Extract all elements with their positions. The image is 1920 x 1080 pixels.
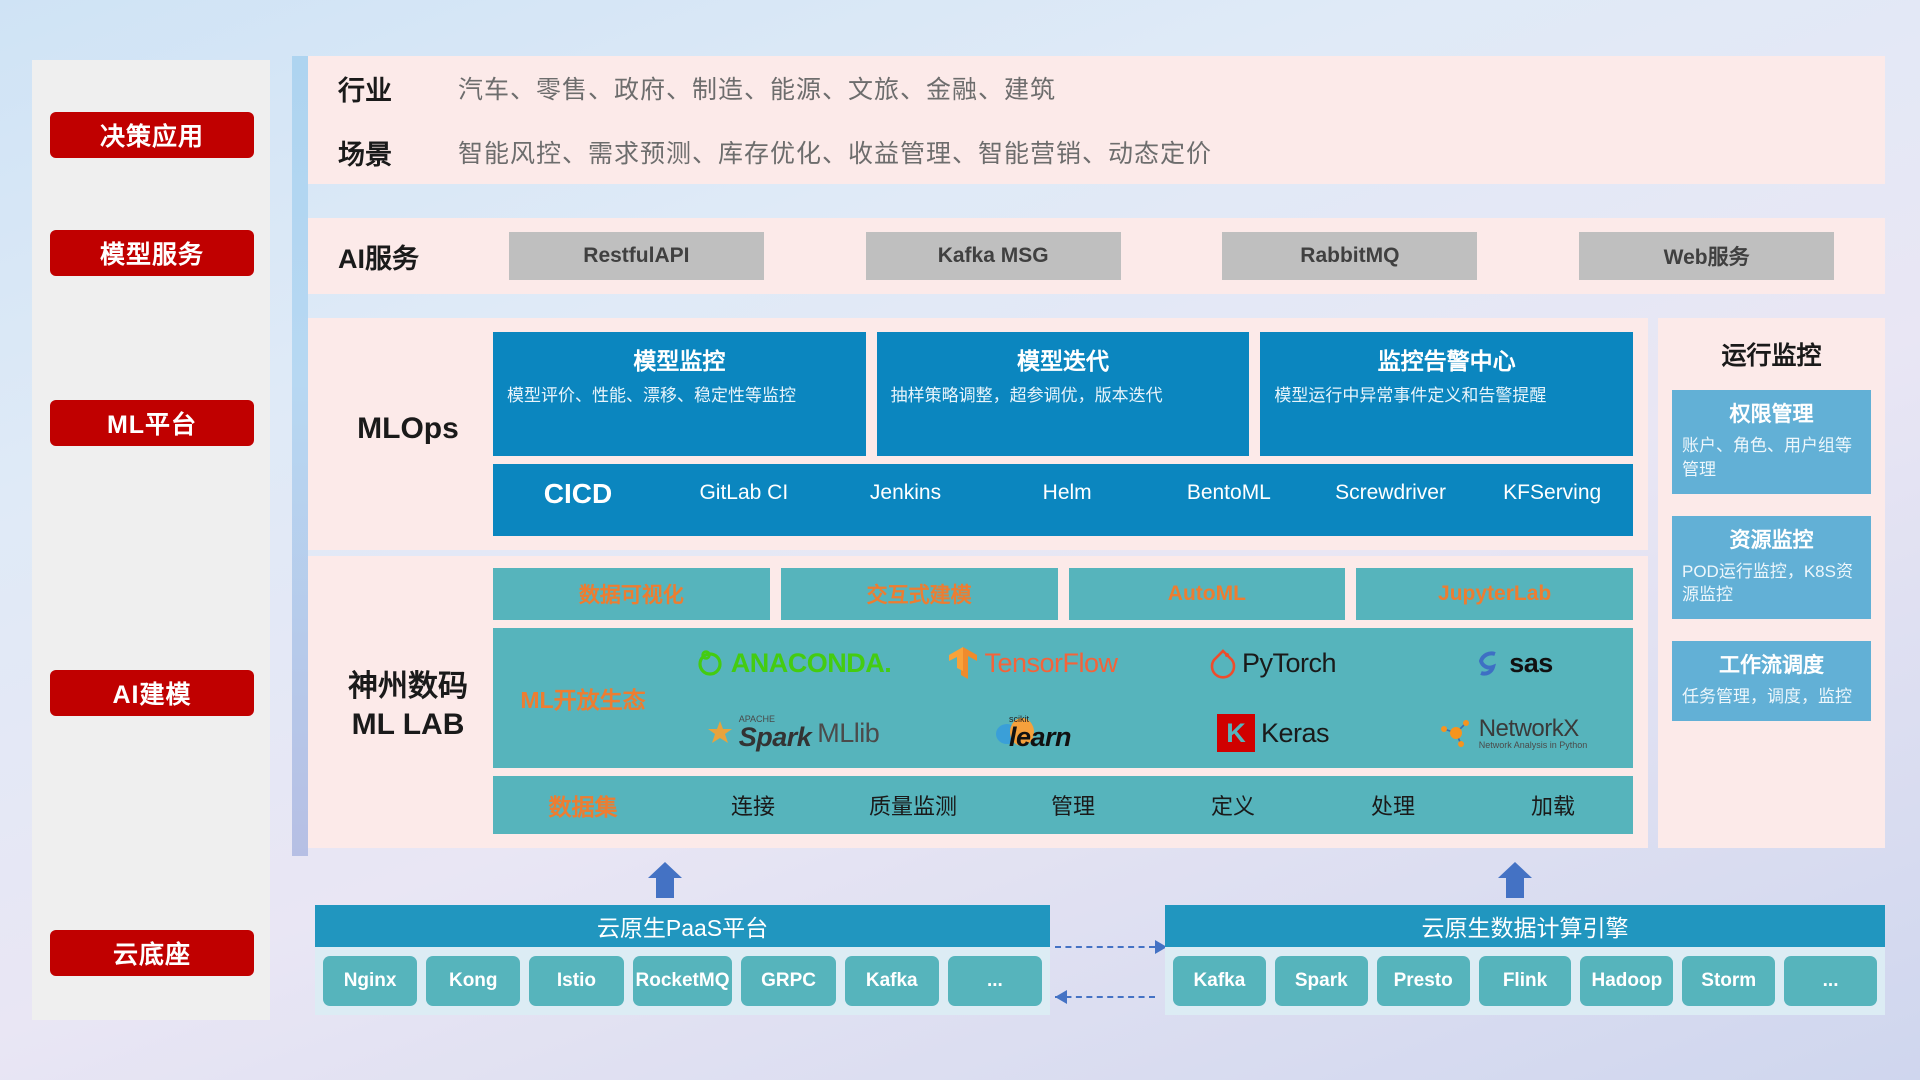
cloud-paas-group: 云原生PaaS平台 Nginx Kong Istio RocketMQ GRPC… — [315, 905, 1050, 1015]
cloud-chip-spark[interactable]: Spark — [1275, 956, 1368, 1006]
monitoring-card-workflow[interactable]: 工作流调度 任务管理，调度，监控 — [1672, 641, 1871, 721]
dataset-band: 数据集 连接 质量监测 管理 定义 处理 加载 — [493, 776, 1633, 834]
mlops-card-model-iteration[interactable]: 模型迭代 抽样策略调整，超参调优，版本迭代 — [877, 332, 1250, 456]
ai-service-chip-web-service[interactable]: Web服务 — [1579, 232, 1834, 280]
cloud-chip-kafka[interactable]: Kafka — [845, 956, 939, 1006]
cloud-paas-chip-list: Nginx Kong Istio RocketMQ GRPC Kafka ... — [315, 947, 1050, 1015]
dashed-line-right — [1055, 946, 1155, 948]
cloud-chip-kong[interactable]: Kong — [426, 956, 520, 1006]
industry-label: 行业 — [338, 69, 458, 108]
cloud-paas-header: 云原生PaaS平台 — [315, 905, 1050, 947]
keras-wordmark: Keras — [1261, 718, 1329, 749]
cloud-chip-flink[interactable]: Flink — [1479, 956, 1572, 1006]
ml-lab-lane-label: 神州数码 ML LAB — [328, 668, 488, 743]
ml-ecosystem-logo-grid: ANACONDA. TensorFlow PyTorch — [673, 628, 1633, 768]
stage-pill-ai-modeling[interactable]: AI建模 — [50, 670, 254, 716]
pytorch-logo: PyTorch — [1210, 647, 1336, 679]
scikit-learn-logo: scikit learn — [995, 715, 1071, 751]
cloud-chip-more-left[interactable]: ... — [948, 956, 1042, 1006]
pytorch-mark-icon — [1210, 647, 1236, 679]
mlops-card-alert-center[interactable]: 监控告警中心 模型运行中异常事件定义和告警提醒 — [1260, 332, 1633, 456]
ai-services-panel: AI服务 RestfulAPI Kafka MSG RabbitMQ Web服务 — [308, 218, 1885, 294]
cloud-chip-kafka-right[interactable]: Kafka — [1173, 956, 1266, 1006]
mlops-panel: MLOps 模型监控 模型评价、性能、漂移、稳定性等监控 模型迭代 抽样策略调整… — [308, 318, 1648, 550]
cloud-data-engine-chip-list: Kafka Spark Presto Flink Hadoop Storm ..… — [1165, 947, 1885, 1015]
cicd-item-jenkins[interactable]: Jenkins — [825, 478, 987, 508]
dataset-item-connect[interactable]: 连接 — [673, 789, 833, 821]
monitoring-panel: 运行监控 权限管理 账户、角色、用户组等管理 资源监控 POD运行监控，K8S资… — [1658, 318, 1885, 848]
mlops-card-desc: 模型运行中异常事件定义和告警提醒 — [1274, 384, 1619, 409]
stage-column: 决策应用 模型服务 ML平台 AI建模 云底座 — [32, 60, 270, 1020]
scenario-row: 场景 智能风控、需求预测、库存优化、收益管理、智能营销、动态定价 — [308, 120, 1885, 184]
networkx-graph-icon — [1439, 718, 1473, 748]
monitoring-card-permission[interactable]: 权限管理 账户、角色、用户组等管理 — [1672, 390, 1871, 494]
stage-pill-model-service[interactable]: 模型服务 — [50, 230, 254, 276]
sas-wordmark: sas — [1509, 648, 1553, 679]
sas-mark-icon — [1473, 648, 1503, 678]
mlops-card-title: 模型迭代 — [891, 342, 1236, 376]
arrowhead-left-icon — [1055, 990, 1067, 1004]
networkx-tagline: Network Analysis in Python — [1479, 741, 1588, 750]
vertical-accent-bar — [292, 56, 308, 856]
cicd-bar: CICD GitLab CI Jenkins Helm BentoML Scre… — [493, 464, 1633, 536]
monitoring-title: 运行监控 — [1672, 336, 1871, 372]
cloud-chip-presto[interactable]: Presto — [1377, 956, 1470, 1006]
cicd-item-helm[interactable]: Helm — [986, 478, 1148, 508]
monitoring-card-resource[interactable]: 资源监控 POD运行监控，K8S资源监控 — [1672, 516, 1871, 620]
tensorflow-wordmark: TensorFlow — [984, 648, 1117, 679]
monitoring-card-desc: 账户、角色、用户组等管理 — [1682, 434, 1861, 482]
ml-lab-panel: 神州数码 ML LAB 数据可视化 交互式建模 AutoML JupyterLa… — [308, 556, 1648, 848]
ml-lab-tool-automl[interactable]: AutoML — [1069, 568, 1346, 620]
monitoring-card-title: 工作流调度 — [1682, 649, 1861, 679]
mlops-card-model-monitoring[interactable]: 模型监控 模型评价、性能、漂移、稳定性等监控 — [493, 332, 866, 456]
ml-lab-label-line1: 神州数码 — [328, 668, 488, 706]
dashed-line-left — [1055, 996, 1155, 998]
spark-star-icon — [707, 720, 733, 746]
scikit-learn-wordmark: learn — [1009, 724, 1071, 751]
stage-pill-cloud-base[interactable]: 云底座 — [50, 930, 254, 976]
cloud-chip-istio[interactable]: Istio — [529, 956, 623, 1006]
cloud-chip-grpc[interactable]: GRPC — [741, 956, 835, 1006]
cicd-item-screwdriver[interactable]: Screwdriver — [1310, 478, 1472, 508]
stage-pill-ml-platform[interactable]: ML平台 — [50, 400, 254, 446]
ml-ecosystem-band: ML开放生态 ANACONDA. TensorFlow — [493, 628, 1633, 768]
mlops-card-list: 模型监控 模型评价、性能、漂移、稳定性等监控 模型迭代 抽样策略调整，超参调优，… — [493, 332, 1633, 456]
pytorch-wordmark: PyTorch — [1242, 648, 1336, 679]
cicd-item-list: GitLab CI Jenkins Helm BentoML Screwdriv… — [663, 478, 1633, 508]
dataset-item-list: 连接 质量监测 管理 定义 处理 加载 — [673, 789, 1633, 821]
monitoring-card-desc: 任务管理，调度，监控 — [1682, 685, 1861, 709]
cicd-item-bentoml[interactable]: BentoML — [1148, 478, 1310, 508]
industry-row: 行业 汽车、零售、政府、制造、能源、文旅、金融、建筑 — [308, 56, 1885, 120]
keras-mark-icon: K — [1217, 714, 1255, 752]
anaconda-wordmark: ANACONDA. — [731, 648, 892, 679]
dataset-item-processing[interactable]: 处理 — [1313, 789, 1473, 821]
dataset-item-loading[interactable]: 加载 — [1473, 789, 1633, 821]
networkx-wordmark: NetworkX — [1479, 716, 1588, 741]
sas-logo: sas — [1473, 648, 1553, 679]
mlops-card-desc: 抽样策略调整，超参调优，版本迭代 — [891, 384, 1236, 409]
cloud-chip-hadoop[interactable]: Hadoop — [1580, 956, 1673, 1006]
spark-mllib-logo: APACHE Spark MLlib — [707, 715, 880, 751]
ai-service-chip-rabbitmq[interactable]: RabbitMQ — [1222, 232, 1477, 280]
ai-services-label: AI服务 — [338, 237, 458, 276]
tensorflow-mark-icon — [948, 646, 978, 680]
anaconda-logo: ANACONDA. — [695, 648, 892, 679]
monitoring-card-desc: POD运行监控，K8S资源监控 — [1682, 560, 1861, 608]
cloud-chip-nginx[interactable]: Nginx — [323, 956, 417, 1006]
dataset-item-quality-monitoring[interactable]: 质量监测 — [833, 789, 993, 821]
ai-service-chip-kafka-msg[interactable]: Kafka MSG — [866, 232, 1121, 280]
dataset-item-definition[interactable]: 定义 — [1153, 789, 1313, 821]
industry-values: 汽车、零售、政府、制造、能源、文旅、金融、建筑 — [458, 70, 1056, 106]
keras-logo: K Keras — [1217, 714, 1329, 752]
mlops-lane-label: MLOps — [328, 410, 488, 448]
ml-lab-tool-data-visualization[interactable]: 数据可视化 — [493, 568, 770, 620]
cloud-chip-storm[interactable]: Storm — [1682, 956, 1775, 1006]
ai-service-chip-restfulapi[interactable]: RestfulAPI — [509, 232, 764, 280]
cicd-title: CICD — [493, 478, 663, 510]
ml-lab-tool-interactive-modeling[interactable]: 交互式建模 — [781, 568, 1058, 620]
cicd-item-gitlab-ci[interactable]: GitLab CI — [663, 478, 825, 508]
anaconda-mark-icon — [695, 648, 725, 678]
mlops-card-desc: 模型评价、性能、漂移、稳定性等监控 — [507, 384, 852, 409]
stage-pill-decision-apps[interactable]: 决策应用 — [50, 112, 254, 158]
cicd-item-kfserving[interactable]: KFServing — [1471, 478, 1633, 508]
monitoring-card-title: 权限管理 — [1682, 398, 1861, 428]
ml-lab-tool-list: 数据可视化 交互式建模 AutoML JupyterLab — [493, 568, 1633, 620]
mlops-card-title: 模型监控 — [507, 342, 852, 376]
mlops-card-title: 监控告警中心 — [1274, 342, 1619, 376]
cloud-data-engine-group: 云原生数据计算引擎 Kafka Spark Presto Flink Hadoo… — [1165, 905, 1885, 1015]
cloud-data-engine-header: 云原生数据计算引擎 — [1165, 905, 1885, 947]
scenario-values: 智能风控、需求预测、库存优化、收益管理、智能营销、动态定价 — [458, 134, 1212, 170]
ml-ecosystem-title: ML开放生态 — [493, 681, 673, 715]
cloud-chip-rocketmq[interactable]: RocketMQ — [633, 956, 733, 1006]
spark-wordmark: Spark — [739, 724, 812, 751]
ml-lab-label-line2: ML LAB — [328, 706, 488, 744]
ai-services-chip-list: RestfulAPI Kafka MSG RabbitMQ Web服务 — [458, 232, 1885, 280]
scenario-label: 场景 — [338, 133, 458, 172]
ml-lab-tool-jupyterlab[interactable]: JupyterLab — [1356, 568, 1633, 620]
cloud-chip-more-right[interactable]: ... — [1784, 956, 1877, 1006]
up-arrow-data-engine-icon — [1498, 862, 1532, 898]
dataset-title: 数据集 — [493, 788, 673, 822]
dataset-item-management[interactable]: 管理 — [993, 789, 1153, 821]
bidirectional-dashed-link — [1055, 946, 1167, 1004]
up-arrow-paas-icon — [648, 862, 682, 898]
networkx-logo: NetworkX Network Analysis in Python — [1439, 716, 1588, 751]
tensorflow-logo: TensorFlow — [948, 646, 1117, 680]
mllib-wordmark: MLlib — [817, 718, 879, 749]
applications-panel: 行业 汽车、零售、政府、制造、能源、文旅、金融、建筑 场景 智能风控、需求预测、… — [308, 56, 1885, 184]
monitoring-card-title: 资源监控 — [1682, 524, 1861, 554]
